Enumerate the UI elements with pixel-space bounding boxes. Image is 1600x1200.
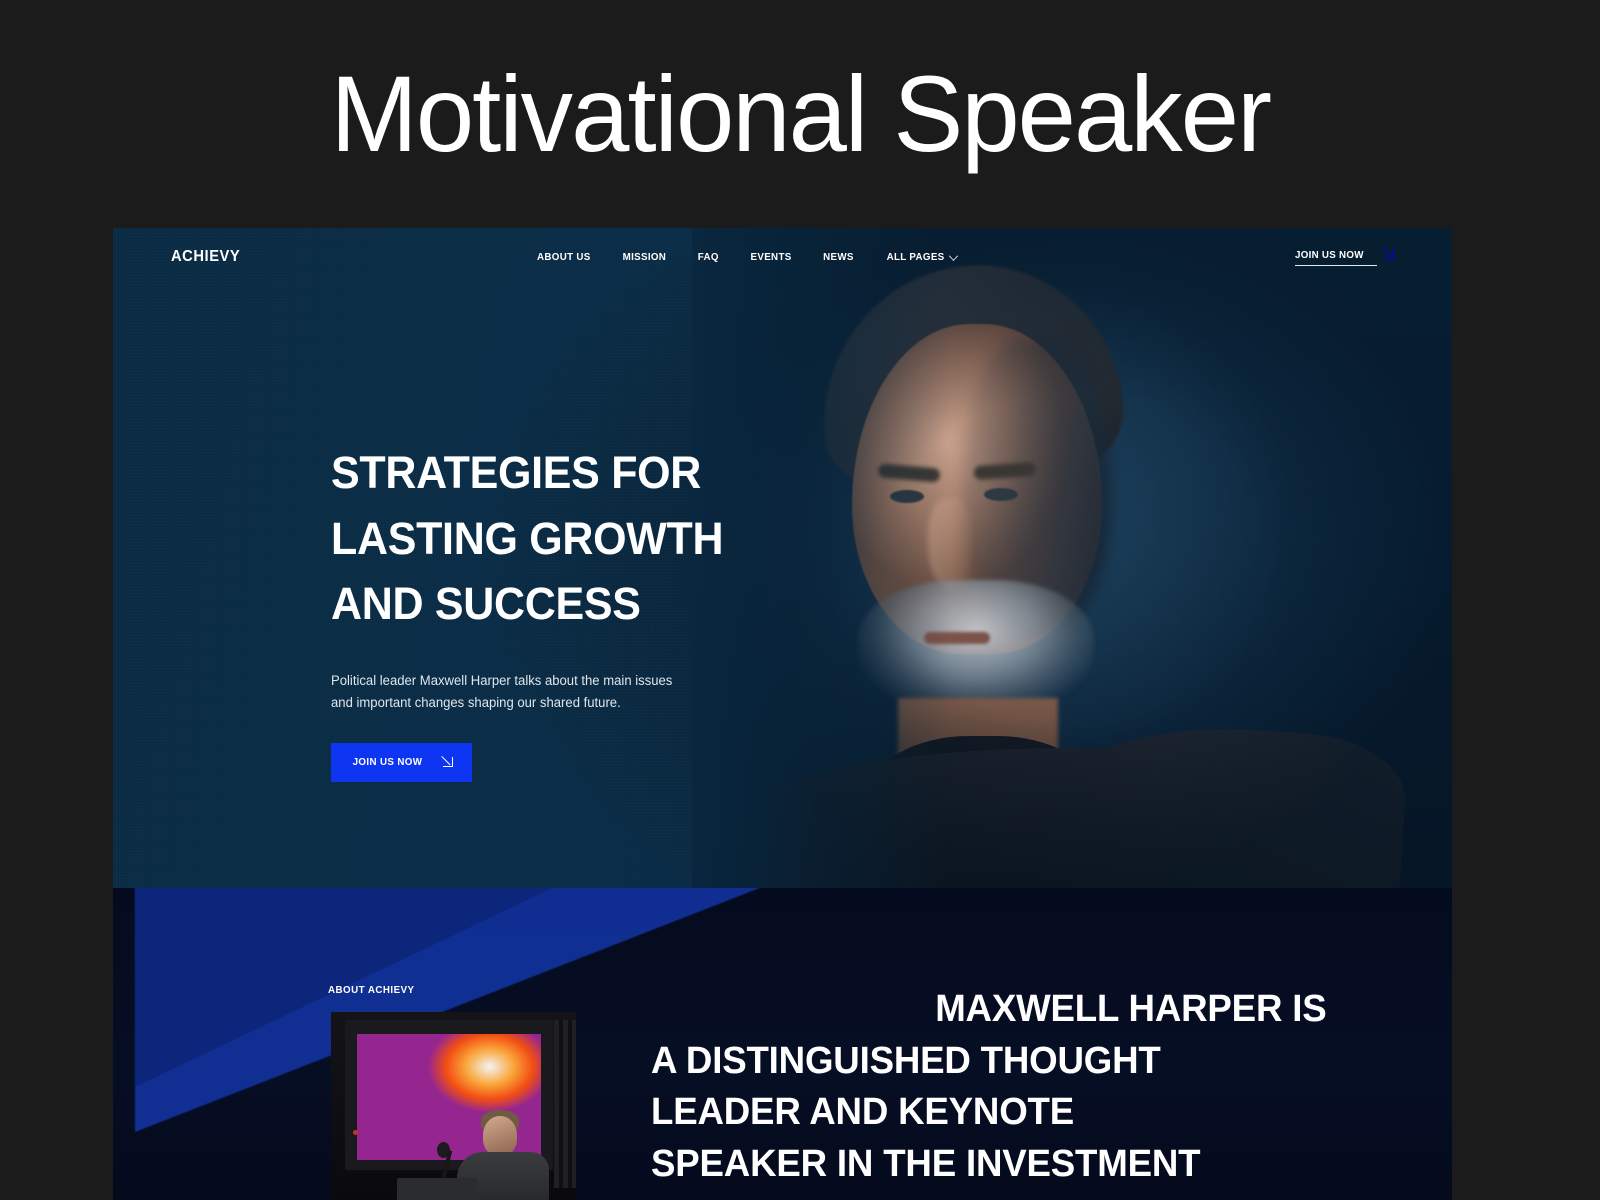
nav-item-faq[interactable]: FAQ [698, 251, 719, 263]
hero-heading: STRATEGIES FOR LASTING GROWTH AND SUCCES… [331, 440, 828, 637]
nav-item-about-us[interactable]: ABOUT US [537, 251, 591, 263]
hero-heading-line-3: AND SUCCESS [331, 578, 641, 629]
about-speaker-photo [331, 1012, 576, 1200]
about-heading-line-2: A DISTINGUISHED THOUGHT [651, 1036, 1327, 1088]
primary-navigation: ABOUT US MISSION FAQ EVENTS NEWS ALL PAG… [415, 251, 958, 263]
header-cta-underline [1295, 265, 1377, 266]
page-title: Motivational Speaker [330, 60, 1269, 168]
page-title-container: Motivational Speaker [0, 0, 1600, 228]
hero-heading-line-2: LASTING GROWTH [331, 513, 723, 564]
about-heading: MAXWELL HARPER IS A DISTINGUISHED THOUGH… [651, 984, 1327, 1191]
nav-item-events[interactable]: EVENTS [750, 251, 791, 263]
hero-button-label: JOIN US NOW [353, 756, 423, 768]
photo-red-light [353, 1130, 358, 1135]
hero-subtitle-line-2: and important changes shaping our shared… [331, 695, 621, 710]
website-preview: ACHIEVY ABOUT US MISSION FAQ EVENTS NEWS… [113, 228, 1452, 1200]
hero-join-us-button[interactable]: JOIN US NOW [331, 743, 472, 782]
arrow-down-right-icon [1383, 249, 1394, 260]
site-header: ACHIEVY ABOUT US MISSION FAQ EVENTS NEWS… [113, 228, 1452, 286]
photo-side-panel [554, 1020, 576, 1188]
hero-heading-line-1: STRATEGIES FOR [331, 447, 701, 498]
about-heading-line-3: LEADER AND KEYNOTE [651, 1087, 1327, 1139]
nav-label: ABOUT US [537, 251, 591, 263]
about-heading-line-1: MAXWELL HARPER IS [651, 984, 1327, 1036]
header-join-us-button[interactable]: JOIN US NOW [1295, 249, 1394, 266]
header-cta-row: JOIN US NOW [1295, 249, 1394, 261]
nav-label: EVENTS [750, 251, 791, 263]
chevron-down-icon [949, 251, 958, 261]
hero-subtitle-line-1: Political leader Maxwell Harper talks ab… [331, 673, 672, 688]
nav-label: ALL PAGES [886, 251, 944, 263]
nav-item-all-pages[interactable]: ALL PAGES [886, 251, 955, 263]
hero-subtitle: Political leader Maxwell Harper talks ab… [331, 670, 835, 714]
nav-label: FAQ [698, 251, 719, 263]
hero-section: ACHIEVY ABOUT US MISSION FAQ EVENTS NEWS… [113, 228, 1452, 888]
hero-content: STRATEGIES FOR LASTING GROWTH AND SUCCES… [331, 440, 851, 782]
nav-label: MISSION [623, 251, 667, 263]
nav-item-news[interactable]: NEWS [823, 251, 854, 263]
nav-item-mission[interactable]: MISSION [623, 251, 667, 263]
nav-label: NEWS [823, 251, 854, 263]
photo-laptop [397, 1178, 477, 1200]
photo-speaker-head [483, 1116, 517, 1156]
about-heading-line-4: SPEAKER IN THE INVESTMENT [651, 1139, 1327, 1191]
about-eyebrow-label: ABOUT ACHIEVY [328, 984, 415, 996]
brand-logo[interactable]: ACHIEVY [171, 248, 240, 266]
header-cta-label: JOIN US NOW [1295, 249, 1364, 261]
about-section: ABOUT ACHIEVY MAXWELL HARPER IS A DISTIN… [113, 888, 1452, 1200]
arrow-down-right-icon [442, 757, 453, 768]
